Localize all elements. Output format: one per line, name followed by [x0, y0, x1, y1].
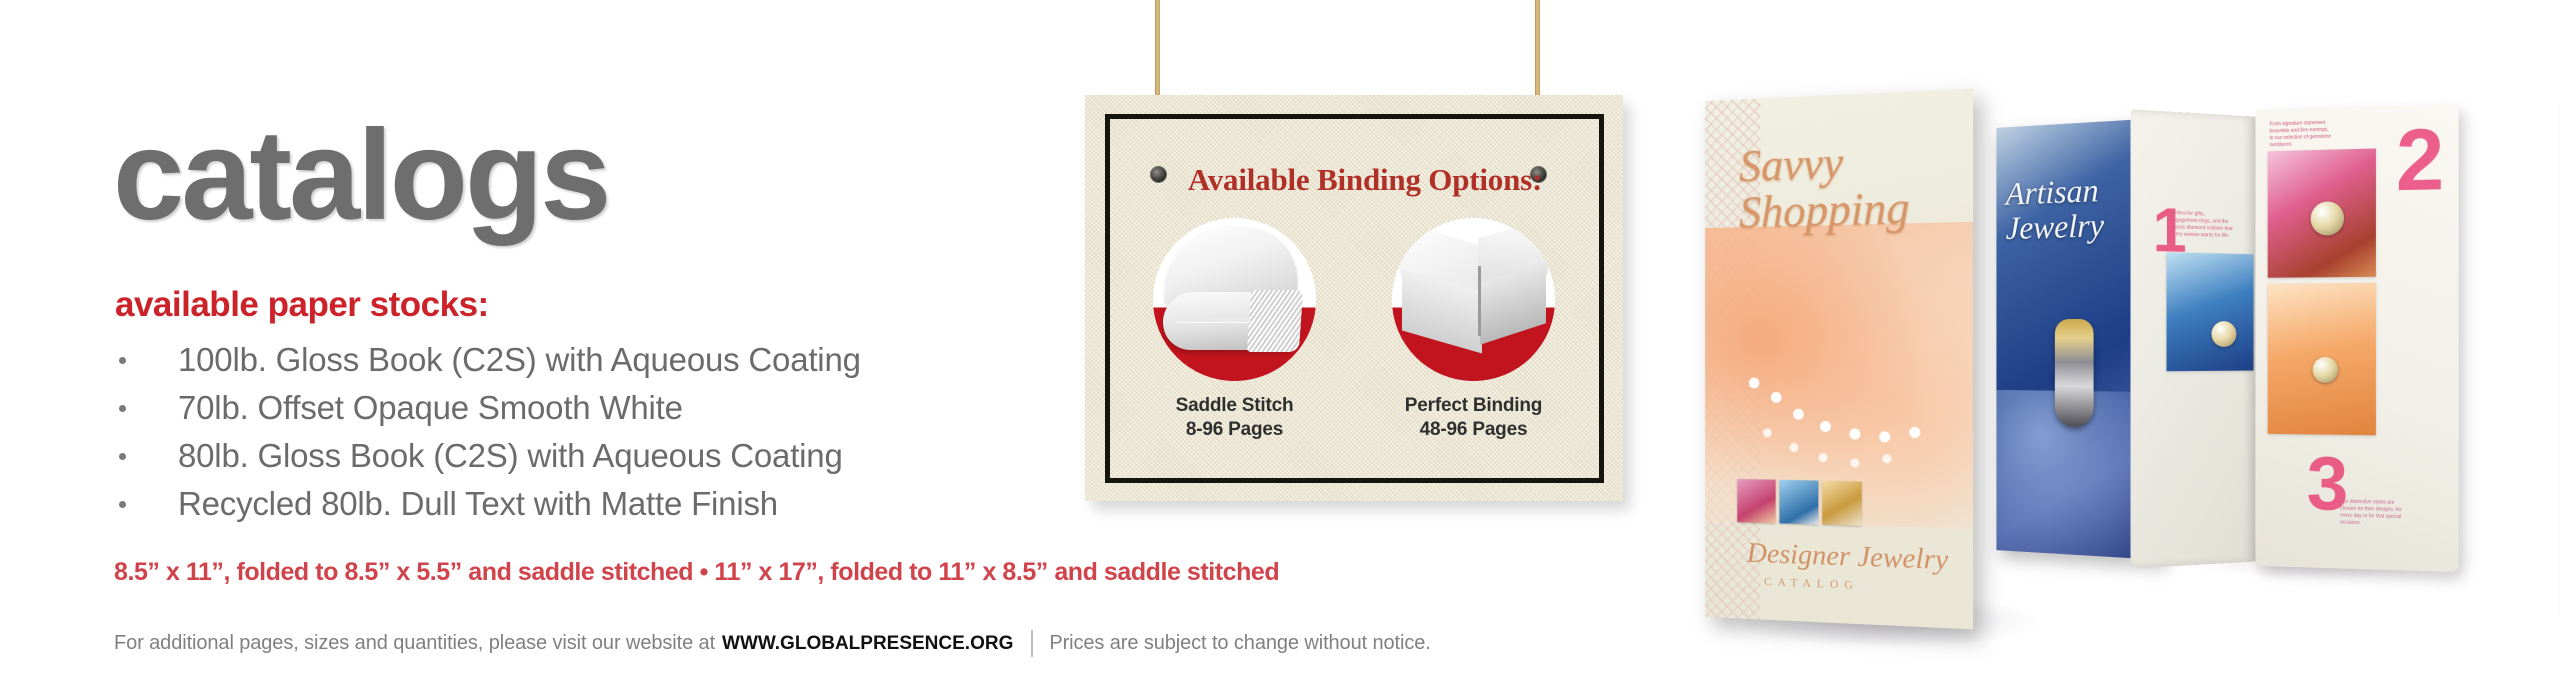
binding-option-perfect-binding: Perfect Binding 48-96 Pages [1374, 218, 1574, 468]
spread-right-page: From signature statement bracelets and f… [2256, 104, 2459, 572]
footer-divider [1031, 630, 1033, 657]
list-item: 70lb. Offset Opaque Smooth White [115, 384, 1015, 432]
gem-icon [2311, 201, 2344, 235]
pendant-jewelry-icon [2055, 319, 2094, 427]
spread-blurb-1: Perfect for gifts, engagement rings, and… [2170, 210, 2232, 240]
paper-stocks-heading: available paper stocks: [115, 285, 489, 325]
list-item-label: 80lb. Gloss Book (C2S) with Aqueous Coat… [178, 432, 843, 480]
perfect-spine-edge [1478, 266, 1481, 336]
spread-photo-pink [2268, 148, 2376, 277]
page-title: catalogs [113, 112, 608, 240]
list-item-label: 70lb. Offset Opaque Smooth White [178, 384, 683, 432]
saddle-crease [1177, 318, 1251, 322]
catalogs-marketing-banner: catalogs available paper stocks: 100lb. … [0, 0, 2560, 700]
website-url[interactable]: WWW.GLOBALPRESENCE.ORG [722, 633, 1013, 655]
footer-note: For additional pages, sizes and quantiti… [114, 630, 1431, 657]
spread-blurb-3: Our distinctive styles are chosen for th… [2340, 499, 2404, 529]
spread-photo-blue [2167, 252, 2254, 371]
bullet-icon [119, 357, 126, 364]
spread-left-page: 1 Perfect for gifts, engagement rings, a… [2131, 109, 2256, 568]
cover-thumbnail [1779, 480, 1818, 525]
cover-thumbnail [1822, 481, 1861, 526]
catalog-product-photo: Artisan Jewelry 1 Perfect for gifts, eng… [1700, 95, 2560, 665]
footer-price-note: Prices are subject to change without not… [1049, 632, 1430, 655]
sign-title: Available Binding Options: [1085, 162, 1645, 198]
binding-option-saddle-stitch: Saddle Stitch 8-96 Pages [1135, 218, 1335, 468]
binding-option-pages: 48-96 Pages [1374, 418, 1574, 442]
list-item: Recycled 80lb. Dull Text with Matte Fini… [115, 480, 1015, 528]
binding-options-row: Saddle Stitch 8-96 Pages Perfect Binding… [1115, 218, 1593, 468]
front-catalog-title-line2: Shopping [1739, 182, 1961, 235]
cover-thumbnail-strip [1737, 479, 1861, 526]
list-item: 100lb. Gloss Book (C2S) with Aqueous Coa… [115, 336, 1015, 384]
list-item: 80lb. Gloss Book (C2S) with Aqueous Coat… [115, 432, 1015, 480]
bullet-icon [119, 453, 126, 460]
saddle-page-edges [1247, 290, 1303, 352]
spread-number-2: 2 [2396, 116, 2444, 204]
spread-photo-orange [2268, 283, 2376, 435]
info-column: catalogs available paper stocks: 100lb. … [0, 0, 1060, 700]
list-item-label: 100lb. Gloss Book (C2S) with Aqueous Coa… [178, 336, 861, 384]
front-catalog-subtitle-block: Designer Jewelry CATALOG [1747, 538, 1963, 604]
paper-stocks-list: 100lb. Gloss Book (C2S) with Aqueous Coa… [115, 336, 1015, 528]
list-item-label: Recycled 80lb. Dull Text with Matte Fini… [178, 480, 778, 528]
binding-option-name: Perfect Binding [1374, 394, 1574, 418]
saddle-stitch-illustration-icon [1153, 218, 1316, 381]
binding-caption: Saddle Stitch 8-96 Pages [1135, 394, 1335, 442]
cover-thumbnail [1737, 479, 1775, 523]
binding-option-name: Saddle Stitch [1135, 394, 1335, 418]
front-catalog-title: Savvy Shopping [1739, 134, 1961, 235]
gem-icon [2211, 321, 2236, 347]
binding-caption: Perfect Binding 48-96 Pages [1374, 394, 1574, 442]
bullet-icon [119, 405, 126, 412]
perfect-binding-illustration-icon [1392, 218, 1555, 381]
front-catalog-cover: Savvy Shopping Designer Jewelry CATALOG [1705, 89, 1973, 630]
open-catalog-spread: 1 Perfect for gifts, engagement rings, a… [2130, 107, 2460, 575]
footer-lead-text: For additional pages, sizes and quantiti… [114, 632, 715, 655]
front-catalog-title-line1: Savvy [1739, 134, 1961, 189]
bullet-icon [119, 501, 126, 508]
binding-option-pages: 8-96 Pages [1135, 418, 1335, 442]
spread-blurb-2: From signature statement bracelets and f… [2270, 120, 2333, 150]
binding-options-sign: Available Binding Options: Saddle Stitch… [1085, 0, 1645, 560]
pearl-necklace-icon [1728, 357, 1955, 480]
size-spec-line: 8.5” x 11”, folded to 8.5” x 5.5” and sa… [114, 558, 1279, 587]
gem-icon [2313, 357, 2339, 383]
